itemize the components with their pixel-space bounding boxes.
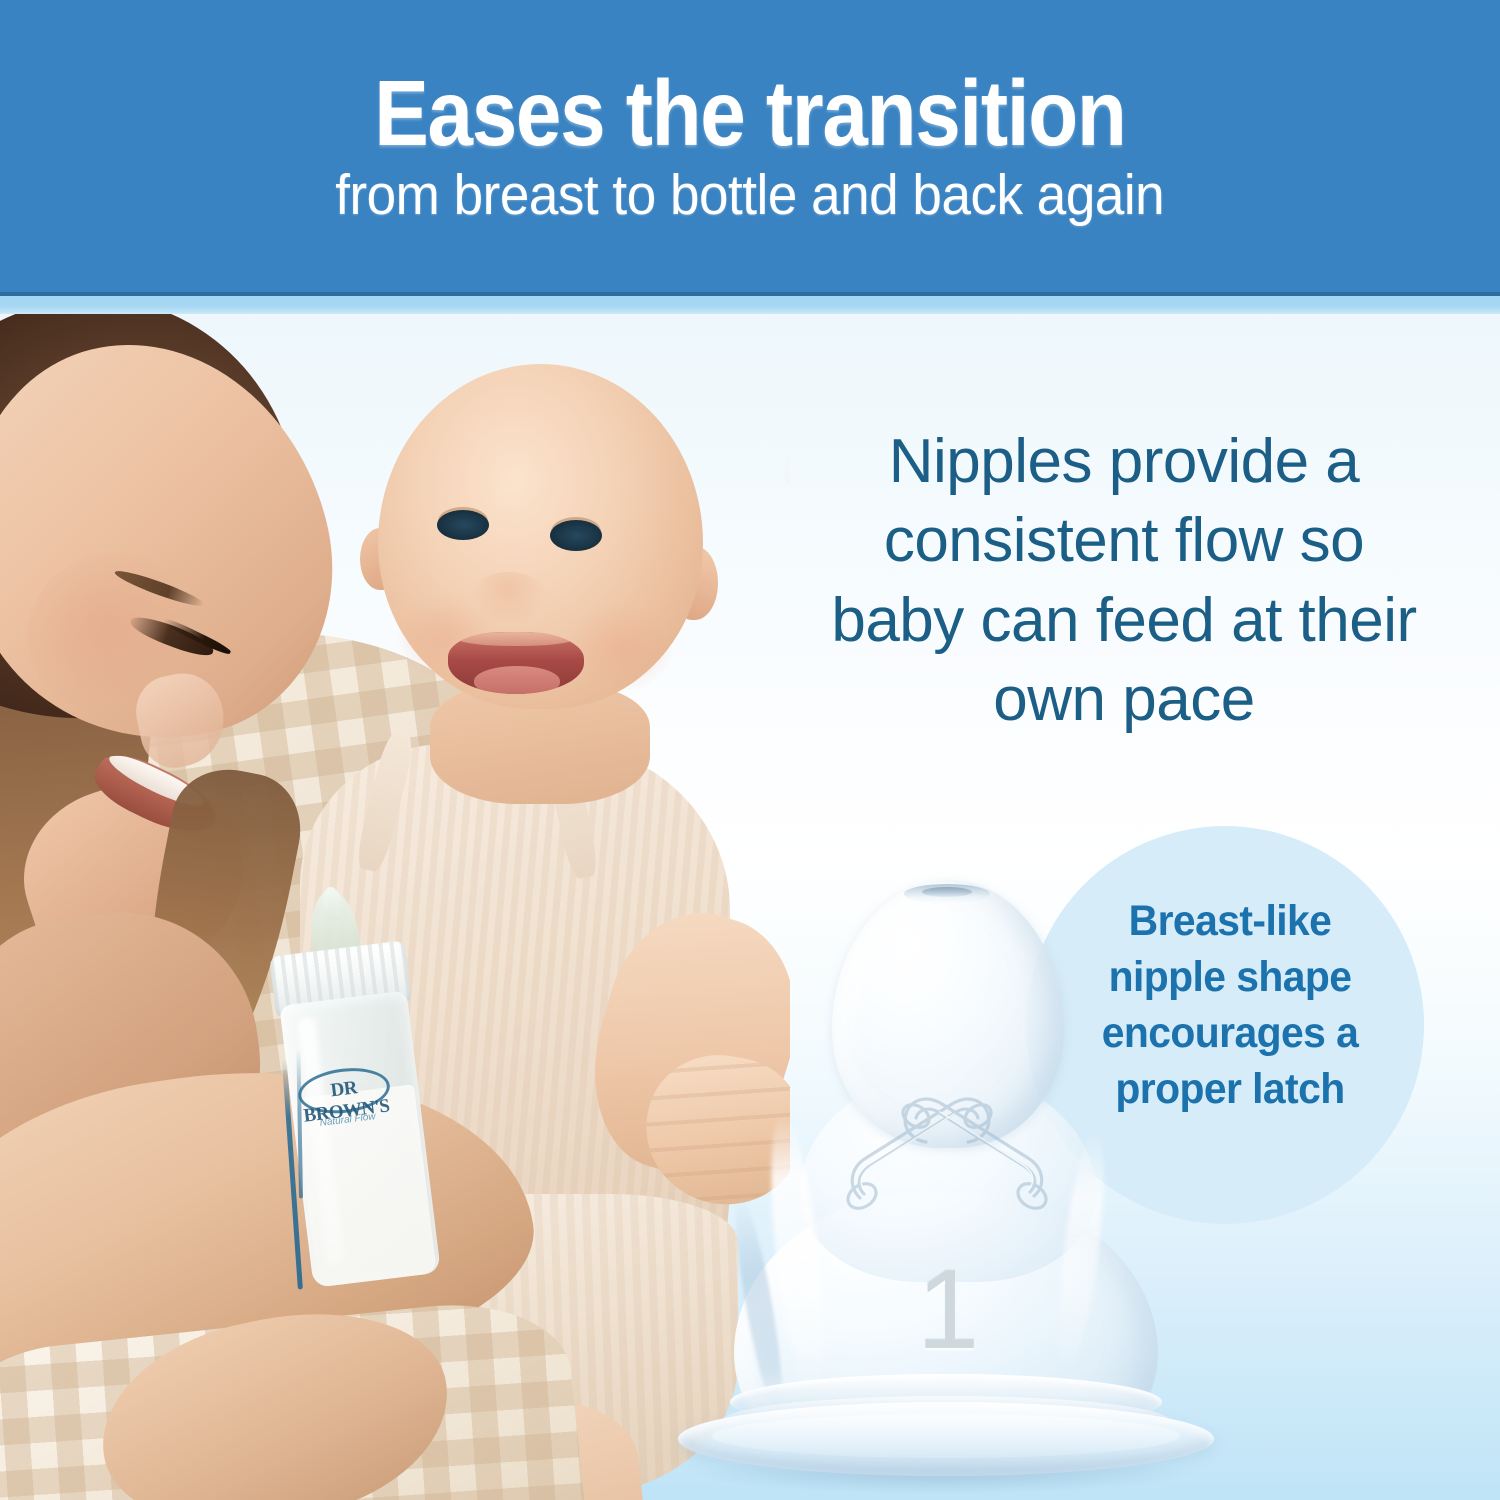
baby-nose <box>470 572 548 626</box>
safety-pin-icon <box>802 1046 1094 1226</box>
header-accent-strip <box>0 296 1500 314</box>
feature-description-text: Nipples provide a consistent flow so bab… <box>820 422 1428 739</box>
main-stage: DR BROWN'S Natural Flow Nipples provide … <box>0 314 1500 1500</box>
baby-cheek-right <box>570 604 674 692</box>
callout-feature-text: Breast-like nipple shape encourages a pr… <box>1069 894 1392 1118</box>
page-title: Eases the transition <box>374 67 1125 160</box>
nipple-flange-inner-face <box>712 1414 1180 1458</box>
baby-eye-right <box>550 520 602 551</box>
baby-smile <box>448 632 584 694</box>
header-banner: Eases the transition from breast to bott… <box>0 0 1500 292</box>
vent-hole-opening-icon <box>922 887 972 897</box>
baby-eye-left <box>437 510 489 540</box>
nipple-flow-level-marking: 1 <box>884 1254 1012 1366</box>
baby-upper-lip <box>458 632 574 646</box>
bottle-nipple-tip <box>321 886 343 922</box>
baby-tongue <box>474 666 560 694</box>
page-subtitle: from breast to bottle and back again <box>335 166 1164 226</box>
